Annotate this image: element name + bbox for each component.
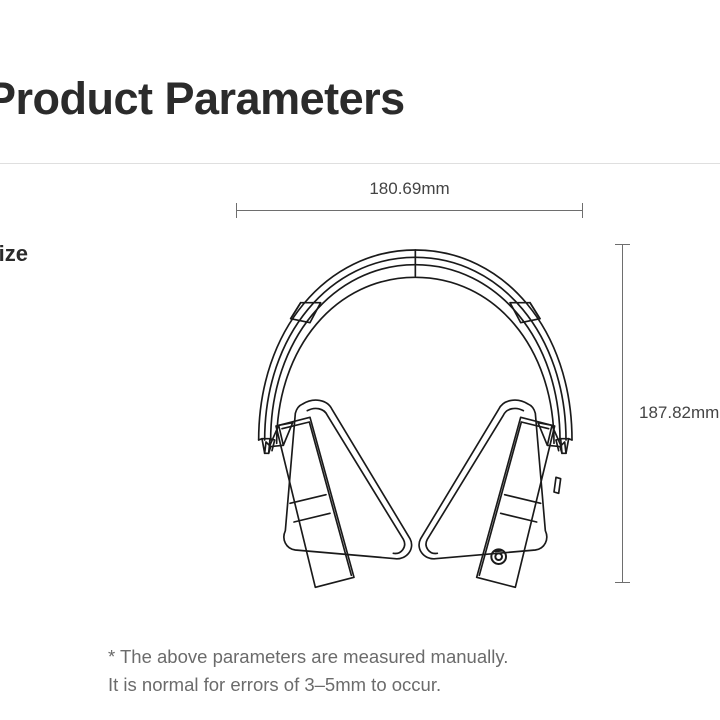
height-dimension-cap-bottom: [615, 582, 630, 583]
height-dimension-line: [622, 244, 623, 582]
footnote-line-2: It is normal for errors of 3–5mm to occu…: [108, 671, 508, 699]
title-divider: [0, 163, 720, 164]
height-dimension-cap-top: [615, 244, 630, 245]
left-ear-cup-pad-inner: [307, 408, 404, 553]
right-ear-cup-side-button: [554, 477, 561, 493]
footnote: * The above parameters are measured manu…: [108, 643, 508, 699]
footnote-line-1: * The above parameters are measured manu…: [108, 643, 508, 671]
page-title: Product Parameters: [0, 76, 405, 121]
product-parameters-page: Product Parameters Size 180.69mm 187.82m…: [0, 0, 720, 720]
headband-band-2: [265, 257, 566, 440]
headband-band-3: [271, 265, 560, 440]
headband-outer-arc: [259, 250, 572, 440]
headphones-line-drawing: [230, 240, 590, 590]
right-ear-cup-pad-inner: [426, 408, 523, 553]
left-ear-cup-seam-2: [294, 513, 330, 522]
width-dimension-cap-right: [582, 203, 583, 218]
left-ear-cup-seam: [290, 495, 326, 504]
section-label-size: Size: [0, 243, 28, 265]
width-dimension-label: 180.69mm: [236, 180, 583, 197]
right-ear-cup-seam-2: [501, 513, 537, 522]
width-dimension-line: [236, 210, 583, 211]
width-dimension-cap-left: [236, 203, 237, 218]
height-dimension-label: 187.82mm: [639, 404, 719, 421]
headphones-svg: [230, 240, 590, 590]
brand-logo-mark: [491, 549, 506, 564]
right-ear-cup-seam: [505, 495, 541, 504]
